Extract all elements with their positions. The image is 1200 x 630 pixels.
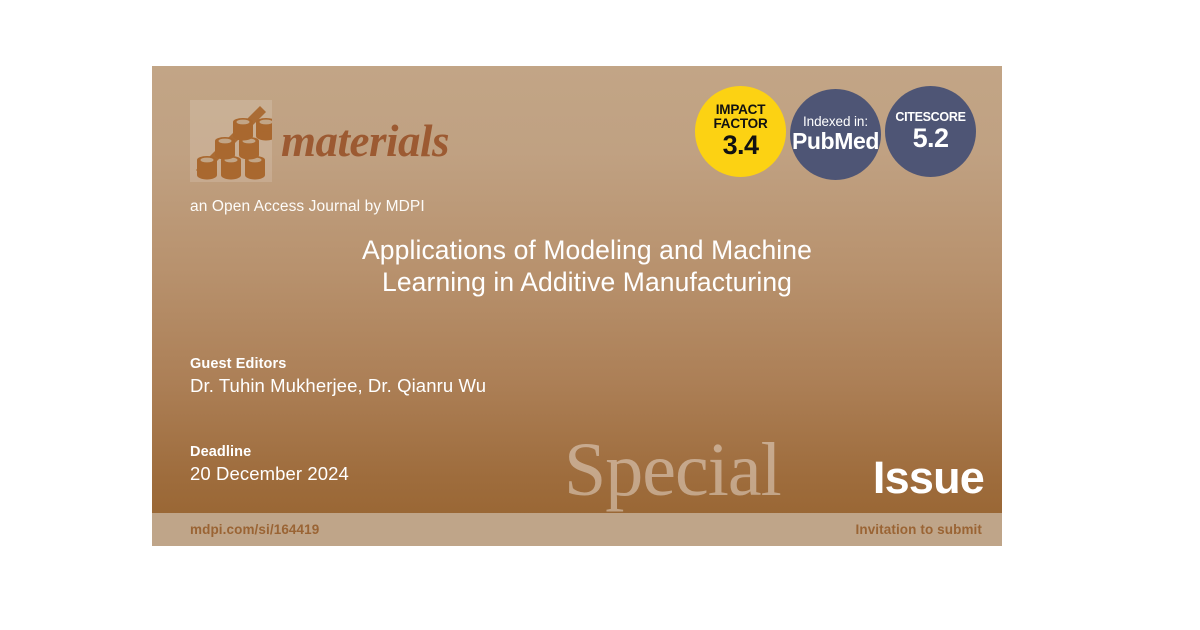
- special-issue-url[interactable]: mdpi.com/si/164419: [190, 522, 319, 537]
- guest-editors-value: Dr. Tuhin Mukherjee, Dr. Qianru Wu: [190, 375, 486, 397]
- special-issue-lockup: Special Issue: [564, 426, 984, 502]
- special-issue-title: Applications of Modeling and Machine Lea…: [232, 234, 942, 299]
- impact-factor-line2: FACTOR: [713, 117, 767, 131]
- lockup-word-issue: Issue: [873, 455, 984, 500]
- citescore-value: 5.2: [913, 125, 949, 153]
- special-issue-flyer: materials an Open Access Journal by MDPI…: [152, 66, 1002, 546]
- impact-factor-badge: IMPACT FACTOR 3.4: [695, 86, 786, 177]
- pubmed-indexed-badge: Indexed in: PubMed: [790, 89, 881, 180]
- impact-factor-value: 3.4: [723, 132, 759, 160]
- materials-stacked-cylinders-icon: [190, 100, 272, 182]
- deadline-block: Deadline 20 December 2024: [190, 444, 349, 485]
- guest-editors-block: Guest Editors Dr. Tuhin Mukherjee, Dr. Q…: [190, 356, 486, 397]
- guest-editors-label: Guest Editors: [190, 356, 486, 372]
- pubmed-indexed-value: PubMed: [792, 130, 879, 153]
- impact-factor-line1: IMPACT: [716, 103, 766, 117]
- journal-tagline: an Open Access Journal by MDPI: [190, 198, 425, 216]
- invitation-to-submit-label: Invitation to submit: [856, 522, 983, 537]
- deadline-label: Deadline: [190, 444, 349, 460]
- citescore-badge: CITESCORE 5.2: [885, 86, 976, 177]
- metric-badges: IMPACT FACTOR 3.4 Indexed in: PubMed CIT…: [695, 86, 976, 180]
- flyer-footer: mdpi.com/si/164419 Invitation to submit: [152, 513, 1002, 546]
- poster-canvas: materials an Open Access Journal by MDPI…: [0, 0, 1200, 630]
- lockup-word-special: Special: [564, 432, 781, 508]
- journal-wordmark: materials: [281, 119, 449, 164]
- pubmed-indexed-label: Indexed in:: [803, 115, 868, 129]
- journal-logo: materials: [190, 100, 449, 182]
- special-issue-title-line1: Applications of Modeling and Machine: [232, 234, 942, 266]
- special-issue-title-line2: Learning in Additive Manufacturing: [232, 266, 942, 298]
- deadline-value: 20 December 2024: [190, 463, 349, 485]
- citescore-label: CITESCORE: [895, 111, 965, 124]
